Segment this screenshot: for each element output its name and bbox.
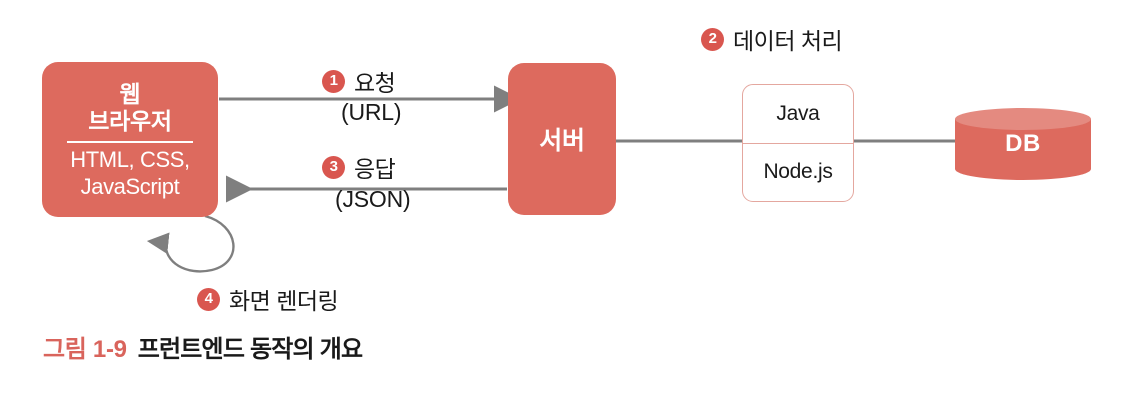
browser-stack-line-2: JavaScript [70,174,189,201]
step-1-sublabel-url: (URL) [341,99,401,126]
step-1-text: 요청 [354,64,395,98]
render-loop-arrow [166,216,234,271]
browser-divider [67,141,193,143]
browser-title-line-2: 브라우저 [88,108,171,136]
browser-tech-stack: HTML, CSS, JavaScript [70,147,189,201]
step-3-text: 응답 [354,150,395,184]
browser-title-line-1: 웹 [88,81,171,109]
browser-stack-line-1: HTML, CSS, [70,147,189,174]
figure-caption-text: 프런트엔드 동작의 개요 [138,329,363,364]
diagram-canvas: 웹 브라우저 HTML, CSS, JavaScript 서버 Java Nod… [0,0,1142,414]
step-2-data-processing-label: 2 데이터 처리 [701,22,842,56]
step-4-render-label: 4 화면 렌더링 [197,282,338,316]
node-database: DB [955,108,1091,180]
node-runtime-stack: Java Node.js [742,84,854,202]
step-1-request-label: 1 요청 [322,64,395,98]
node-web-browser: 웹 브라우저 HTML, CSS, JavaScript [42,62,218,217]
step-3-badge-icon: 3 [322,156,345,179]
step-2-text: 데이터 처리 [733,22,842,56]
step-4-badge-icon: 4 [197,288,220,311]
browser-title: 웹 브라우저 [88,81,171,136]
step-3-response-label: 3 응답 [322,150,395,184]
runtime-label-nodejs: Node.js [743,144,853,202]
figure-caption: 그림 1-9 프런트엔드 동작의 개요 [43,329,362,364]
runtime-label-java: Java [743,85,853,144]
step-3-sublabel-json: (JSON) [335,186,410,213]
server-label: 서버 [539,121,584,157]
step-1-badge-icon: 1 [322,70,345,93]
node-server: 서버 [508,63,616,215]
step-4-text: 화면 렌더링 [229,282,338,316]
step-2-badge-icon: 2 [701,28,724,51]
figure-caption-number: 그림 1-9 [43,329,127,364]
database-label: DB [955,108,1091,180]
